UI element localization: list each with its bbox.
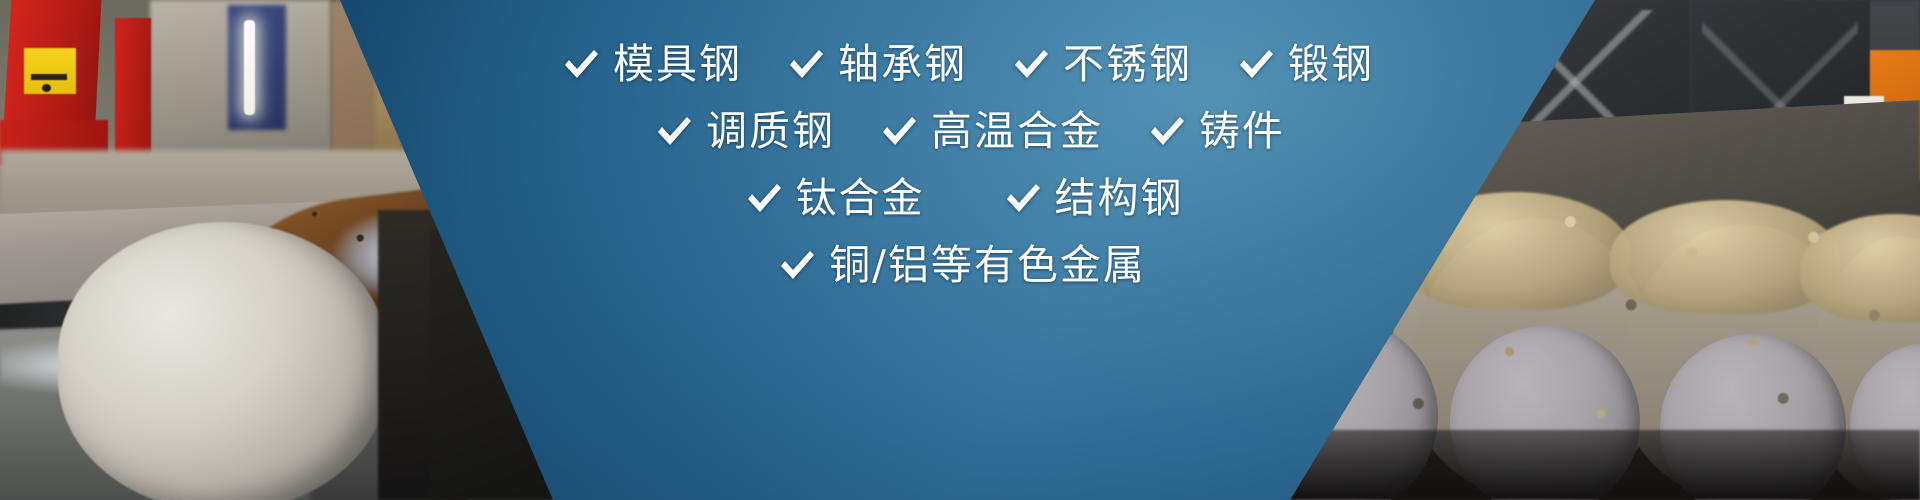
tube-light xyxy=(244,20,255,115)
feature-item-0-1[interactable]: 轴承钢 xyxy=(786,44,967,85)
feature-label: 结构钢 xyxy=(1055,178,1184,219)
feature-item-0-3[interactable]: 锻钢 xyxy=(1236,44,1374,85)
check-icon xyxy=(1003,179,1043,219)
feature-item-0-2[interactable]: 不锈钢 xyxy=(1011,44,1192,85)
check-icon xyxy=(879,112,919,152)
feature-label: 不锈钢 xyxy=(1063,44,1192,85)
feature-label: 铜/铝等有色金属 xyxy=(829,245,1146,286)
feature-label: 钛合金 xyxy=(796,178,925,219)
feature-row: 钛合金 结构钢 xyxy=(722,178,1206,219)
feature-item-1-2[interactable]: 铸件 xyxy=(1147,111,1285,152)
yellow-warning-label xyxy=(24,48,76,94)
feature-row: 模具钢 轴承钢 不锈钢 锻钢 xyxy=(539,44,1396,85)
feature-item-3-0[interactable]: 铜/铝等有色金属 xyxy=(777,245,1146,286)
feature-item-0-0[interactable]: 模具钢 xyxy=(561,44,742,85)
feature-label: 铸件 xyxy=(1199,111,1285,152)
feature-item-1-0[interactable]: 调质钢 xyxy=(654,111,835,152)
feature-item-2-1[interactable]: 结构钢 xyxy=(1003,178,1184,219)
check-icon xyxy=(1011,45,1051,85)
billet-machined-face xyxy=(58,222,388,500)
feature-label: 模具钢 xyxy=(613,44,742,85)
feature-row: 调质钢 高温合金 铸件 xyxy=(632,111,1307,152)
check-icon xyxy=(786,45,826,85)
check-icon xyxy=(777,246,817,286)
feature-label: 高温合金 xyxy=(931,111,1103,152)
check-icon xyxy=(744,179,784,219)
feature-row: 铜/铝等有色金属 xyxy=(755,245,1168,286)
check-icon xyxy=(1147,112,1187,152)
check-icon xyxy=(1236,45,1276,85)
feature-item-2-0[interactable]: 钛合金 xyxy=(744,178,925,219)
red-machine-column xyxy=(115,18,151,158)
feature-label: 轴承钢 xyxy=(838,44,967,85)
blue-tarp xyxy=(228,5,286,130)
product-category-list: 模具钢 轴承钢 不锈钢 锻钢 xyxy=(340,0,1595,500)
feature-label: 锻钢 xyxy=(1288,44,1374,85)
check-icon xyxy=(561,45,601,85)
feature-item-1-1[interactable]: 高温合金 xyxy=(879,111,1103,152)
feature-label: 调质钢 xyxy=(706,111,835,152)
check-icon xyxy=(654,112,694,152)
product-category-banner: 模具钢 轴承钢 不锈钢 锻钢 xyxy=(0,0,1920,500)
